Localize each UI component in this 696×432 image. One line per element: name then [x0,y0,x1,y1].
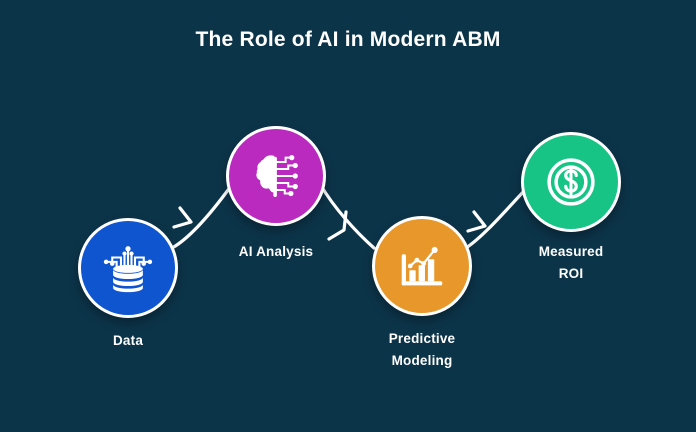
step-circle-ai-analysis[interactable] [226,126,326,226]
arrow-up-right-icon [174,208,191,227]
step-label-ai-analysis: AI Analysis [206,241,346,263]
step-label-line1: Predictive [389,331,456,346]
step-label-line2: ROI [559,266,584,281]
brain-circuit-icon [248,148,304,204]
bar-chart-trend-icon [395,239,449,293]
connector-data-to-ai [172,186,231,248]
step-label-predictive-modeling: Predictive Modeling [357,328,487,372]
step-label-data: Data [58,330,198,352]
arrow-up-right-icon [468,212,485,231]
step-circle-predictive-modeling[interactable] [372,216,472,316]
step-label-line2: Modeling [392,353,453,368]
connector-ai-to-predictive [320,184,374,248]
step-circle-measured-roi[interactable] [521,132,621,232]
connector-predictive-to-roi [466,190,525,248]
step-label-measured-roi: Measured ROI [506,241,636,285]
database-circuit-icon [100,240,156,296]
infographic-canvas: The Role of AI in Modern ABM [0,0,696,432]
step-circle-data[interactable] [78,218,178,318]
dollar-coin-icon [543,154,599,210]
step-label-line1: Measured [539,244,604,259]
